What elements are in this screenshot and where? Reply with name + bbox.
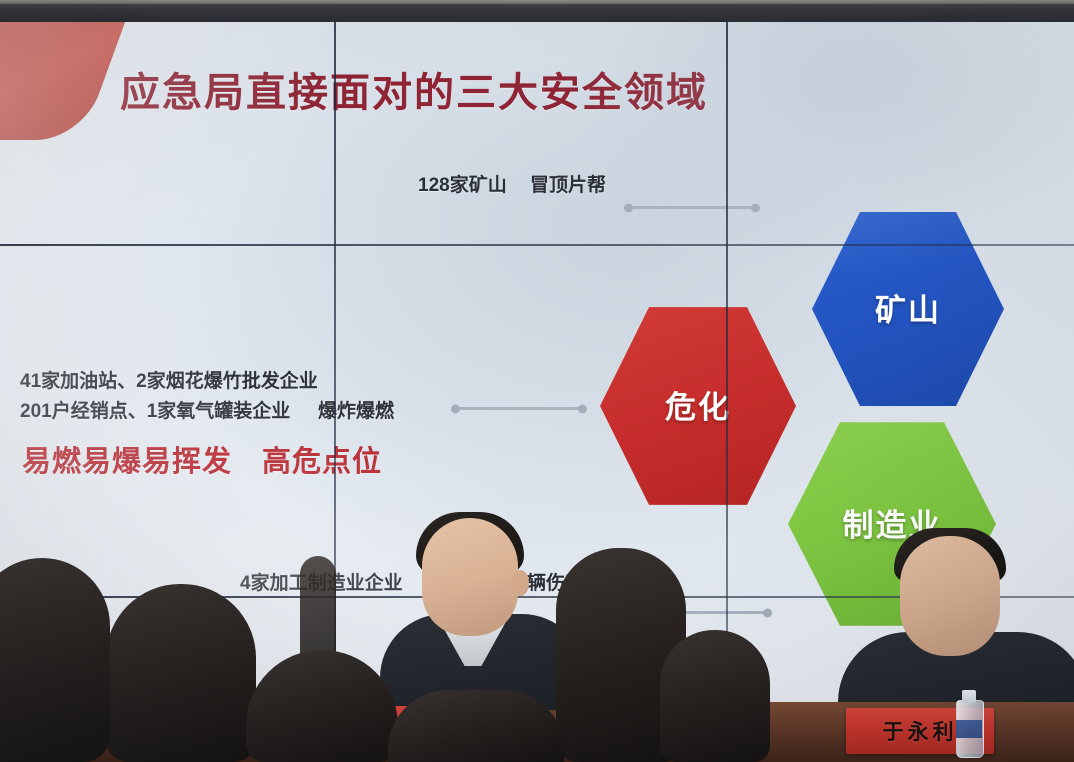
callout-chemical-line2: 201户经销点、1家氧气罐装企业 <box>20 396 290 423</box>
video-wall-bezel <box>0 0 1074 22</box>
connector-line-icon <box>455 407 583 410</box>
connector-line-icon <box>628 206 756 209</box>
callout-chemical-emphasis: 易燃易爆易挥发 高危点位 <box>22 438 382 480</box>
hexagon-mining-label: 矿山 <box>875 285 941 330</box>
hexagon-manufacturing: 制造业 <box>788 418 996 630</box>
wall-seam-vertical-1 <box>334 22 336 762</box>
callout-chemical-hazard: 爆炸爆燃 <box>318 396 394 423</box>
slide-corner-decoration <box>0 20 126 140</box>
callout-chemical-line1: 41家加油站、2家烟花爆竹批发企业 <box>20 366 318 393</box>
callout-manufacturing-hazard: 害、车辆伤害 <box>470 568 584 595</box>
callout-mining-count: 128家矿山 <box>418 170 507 197</box>
hexagon-hazardous-chemicals-label: 危化 <box>665 382 731 427</box>
ceiling-edge <box>0 0 1074 4</box>
slide-title: 应急局直接面对的三大安全领域 <box>120 60 708 118</box>
wall-seam-horizontal-1 <box>0 244 1074 246</box>
callout-manufacturing-count: 4家加工制造业企业 <box>240 568 403 595</box>
callout-mining-hazard: 冒顶片帮 <box>530 170 606 197</box>
hexagon-hazardous-chemicals: 危化 <box>600 303 796 509</box>
hexagon-mining: 矿山 <box>812 208 1004 410</box>
video-wall: 应急局直接面对的三大安全领域 128家矿山 冒顶片帮 41家加油站、2家烟花爆竹… <box>0 0 1074 762</box>
wall-seam-horizontal-2 <box>0 596 1074 598</box>
screenshot-root: 应急局直接面对的三大安全领域 128家矿山 冒顶片帮 41家加油站、2家烟花爆竹… <box>0 0 1074 762</box>
connector-line-icon <box>640 611 768 614</box>
wall-seam-vertical-2 <box>726 22 728 762</box>
hexagon-manufacturing-label: 制造业 <box>843 500 942 545</box>
